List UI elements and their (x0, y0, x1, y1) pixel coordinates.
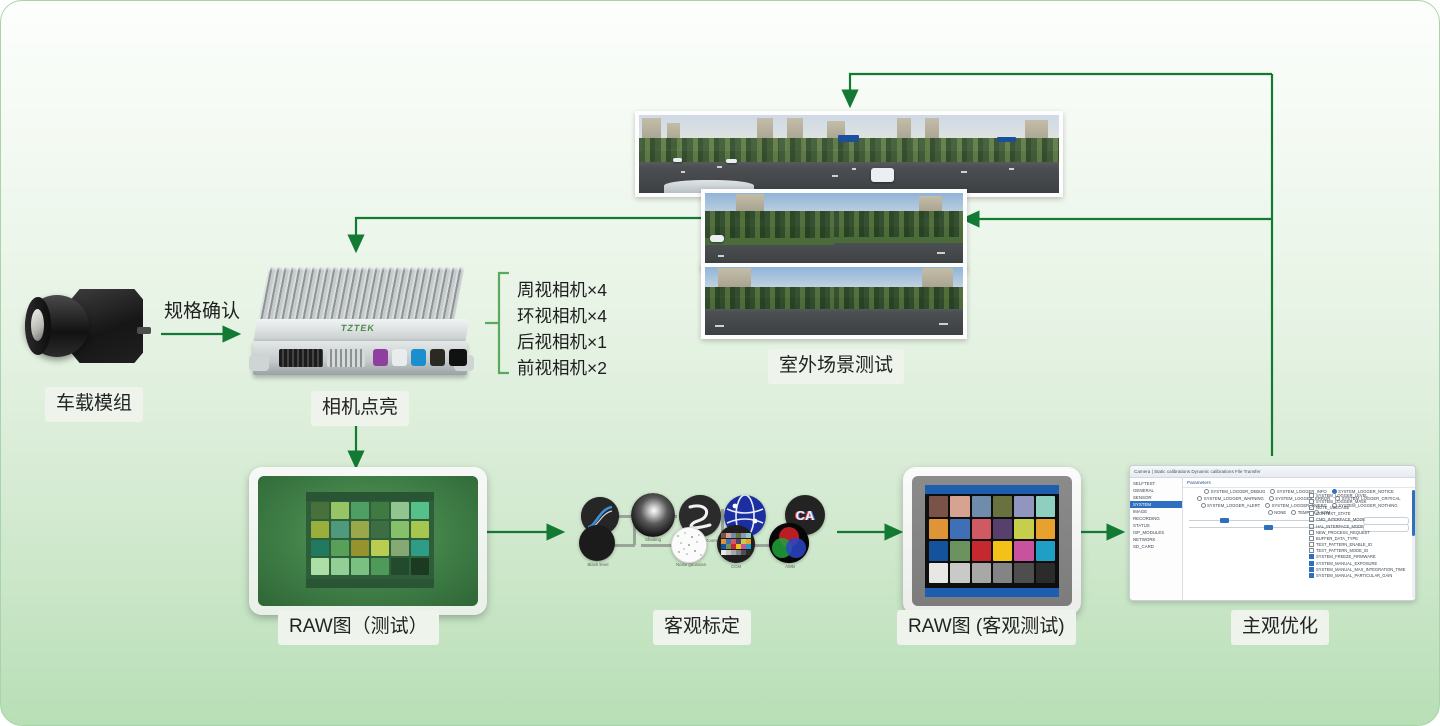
colorchecker-patch (972, 563, 991, 583)
param-checkbox[interactable] (1309, 567, 1314, 572)
radio-label: SYSTEM_LOGGER_ALERT (1207, 503, 1260, 508)
edge-scene-to-ecu (356, 218, 701, 251)
colorchecker-patch (731, 533, 736, 538)
colorchecker-patch (1014, 541, 1033, 561)
colorchecker-patch (746, 544, 751, 549)
software-tree-item[interactable]: ISP_MODULES (1130, 529, 1182, 536)
radio-label: TEMP (1298, 510, 1310, 515)
software-tab-parameters[interactable]: Parameters (1183, 478, 1415, 488)
colorchecker-patch (993, 496, 1012, 516)
spec-item-2: 后视相机×1 (517, 329, 607, 355)
noise-icon (671, 527, 707, 563)
colorchecker-patch (929, 563, 948, 583)
scene-photo-row-top (635, 111, 1063, 197)
colorchecker-patch (736, 539, 741, 544)
colorchecker-patch (351, 558, 369, 575)
colorchecker-patch (311, 558, 329, 575)
colorchecker-patch (726, 539, 731, 544)
sphere-shading-icon (631, 493, 675, 537)
colorchecker-patch (746, 533, 751, 538)
colorchecker-patch (371, 558, 389, 575)
spec-item-1: 环视相机×4 (517, 303, 607, 329)
param-label: SYSTEM_MANUAL_PARTICULAR_GAIN (1316, 573, 1392, 578)
calibration-pipeline-icon: Relative IT Shading Distance & Zoom Matr… (569, 487, 831, 575)
colorchecker-patch (950, 563, 969, 583)
param-label: CMD_INTERFACE_MODE (1316, 517, 1365, 522)
caption-camera-module: 车载模组 (45, 387, 143, 422)
param-label: TEST_PATTERN_ENABLE_ID (1316, 542, 1372, 547)
colorchecker-patch (311, 540, 329, 557)
monitor-green-colorchecker-icon (249, 467, 487, 615)
param-checkbox[interactable] (1309, 573, 1314, 578)
colorchecker-patch (391, 502, 409, 519)
radio-button[interactable] (1291, 510, 1296, 515)
colorchecker-patch (972, 519, 991, 539)
software-tree-item[interactable]: IMAGE (1130, 508, 1182, 515)
software-tree-item[interactable]: NETWORK (1130, 536, 1182, 543)
colorchecker-patch (972, 541, 991, 561)
radio-button[interactable] (1201, 503, 1206, 508)
param-checkbox[interactable] (1309, 548, 1314, 553)
colorchecker-patch (1014, 496, 1033, 516)
radio-button[interactable] (1265, 503, 1270, 508)
camera-module-icon (19, 281, 149, 371)
param-checkbox[interactable] (1309, 499, 1314, 504)
colorchecker-patch (311, 502, 329, 519)
scene-photo-cell (779, 115, 919, 193)
param-label: NEW_PROCESS_REQUEST (1316, 530, 1370, 535)
param-label: HAL_INTERFACE_MODE (1316, 524, 1364, 529)
scene-photo-cell (919, 115, 1059, 193)
caption-objective-calibration: 客观标定 (653, 610, 751, 645)
ecu-controller-icon: TZTEK (249, 267, 474, 379)
colorchecker-patch (741, 539, 746, 544)
colorchecker-patch (351, 502, 369, 519)
radio-button[interactable] (1270, 489, 1275, 494)
colorchecker-patch (721, 539, 726, 544)
colorchecker-patch (726, 533, 731, 538)
software-titlebar: Camera | Static calibrations Dynamic cal… (1130, 466, 1415, 478)
param-checkbox[interactable] (1309, 524, 1314, 529)
spec-list: 周视相机×4 环视相机×4 后视相机×1 前视相机×2 (517, 277, 607, 381)
software-tree-item[interactable]: SELFTEST (1130, 480, 1182, 487)
spec-bracket (485, 273, 509, 373)
colorchecker-patch (391, 521, 409, 538)
colorchecker-patch (929, 541, 948, 561)
calib-label-5: Black level (575, 562, 621, 567)
colorchecker-patch (731, 539, 736, 544)
param-checkbox[interactable] (1309, 536, 1314, 541)
param-label: SYSTEM_MANUAL_EXPOSURE (1316, 561, 1377, 566)
colorchecker-patch (929, 496, 948, 516)
calib-label-7: CCM (719, 564, 753, 569)
colorchecker-patch (741, 533, 746, 538)
scene-photo-cell (705, 193, 834, 267)
colorchecker-patch (950, 541, 969, 561)
colorchecker-patch (741, 550, 746, 555)
colorchecker-patch (741, 544, 746, 549)
software-tree-panel[interactable]: SELFTESTGENERALSENSORSYSTEMIMAGERECORDIN… (1130, 478, 1183, 601)
scene-photo-cell (639, 115, 779, 193)
colorchecker-patch (331, 558, 349, 575)
colorchecker-patch (1036, 541, 1055, 561)
colorchecker-patch (371, 521, 389, 538)
radio-button[interactable] (1269, 496, 1274, 501)
software-param-list[interactable]: SYSTEM_LOGGER_LEVELSYSTEM_LOGGER_MASKNOT… (1309, 492, 1413, 579)
colorchecker-patch (929, 519, 948, 539)
colorchecker-patch (721, 550, 726, 555)
spec-item-0: 周视相机×4 (517, 277, 607, 303)
colorchecker-patch (371, 540, 389, 557)
tuning-software-window-icon[interactable]: Camera | Static calibrations Dynamic cal… (1129, 465, 1416, 601)
colorchecker-patch (411, 540, 429, 557)
param-checkbox[interactable] (1309, 505, 1314, 510)
colorchecker-patch (311, 521, 329, 538)
colorchecker-patch (950, 519, 969, 539)
colorchecker-patch (950, 496, 969, 516)
colorchecker-patch (391, 558, 409, 575)
colorchecker-patch (746, 539, 751, 544)
caption-camera-bringup: 相机点亮 (311, 391, 409, 426)
param-label: SYSTEM_MANUAL_MAX_INTEGRATION_TIME (1316, 567, 1405, 572)
colorchecker-icon (717, 525, 755, 563)
param-checkbox[interactable] (1309, 561, 1314, 566)
caption-raw-test: RAW图（测试） (278, 610, 439, 645)
monitor-colorchecker-icon (903, 467, 1081, 615)
param-label: CONTEXT_STATE (1316, 511, 1350, 516)
software-param-row[interactable]: SYSTEM_MANUAL_PARTICULAR_GAIN (1309, 572, 1413, 578)
colorchecker-patch (1036, 496, 1055, 516)
radio-button[interactable] (1197, 496, 1202, 501)
colorchecker-patch (411, 558, 429, 575)
software-tree-item[interactable]: SENSOR (1130, 494, 1182, 501)
param-checkbox[interactable] (1309, 493, 1314, 498)
colorchecker-patch (972, 496, 991, 516)
colorchecker-patch (731, 550, 736, 555)
calib-label-6: Noise gaussian (665, 562, 717, 567)
param-label: SYSTEM_LOGGER_MASK (1316, 499, 1367, 504)
colorchecker-patch (736, 544, 741, 549)
param-checkbox[interactable] (1309, 542, 1314, 547)
colorchecker-patch (391, 540, 409, 557)
scene-photo-row-bottom (701, 263, 967, 339)
scene-photo-cell (834, 193, 963, 267)
radio-label: SYSTEM_LOGGER_WARNING (1204, 496, 1264, 501)
edge-label-spec-confirm: 规格确认 (164, 296, 240, 323)
colorchecker-patch (371, 502, 389, 519)
param-label: NOTE_USECASE (1316, 505, 1349, 510)
param-label: TEST_PATTERN_MODE_ID (1316, 548, 1368, 553)
scene-photo-row-middle (701, 189, 967, 271)
colorchecker-patch (736, 533, 741, 538)
colorchecker-patch (331, 502, 349, 519)
scene-photo-cell (834, 267, 963, 335)
colorchecker-patch (411, 521, 429, 538)
radio-label: NONE (1274, 510, 1286, 515)
software-param-row[interactable]: SYSTEM_MANUAL_MAX_INTEGRATION_TIME (1309, 566, 1413, 572)
colorchecker-patch (736, 550, 741, 555)
colorchecker-patch (1036, 563, 1055, 583)
colorchecker-patch (351, 540, 369, 557)
edge-feedback-to-top-scene (850, 74, 1272, 106)
radio-button[interactable] (1268, 510, 1273, 515)
software-tree-item[interactable]: SYSTEM (1130, 501, 1182, 508)
colorchecker-patch (726, 550, 731, 555)
black-disc-icon (579, 525, 615, 561)
colorchecker-patch (331, 540, 349, 557)
param-checkbox[interactable] (1309, 554, 1314, 559)
caption-raw-objective: RAW图 (客观测试) (897, 610, 1076, 645)
colorchecker-patch (1036, 519, 1055, 539)
colorchecker-patch (351, 521, 369, 538)
spec-item-3: 前视相机×2 (517, 355, 607, 381)
scene-photo-cell (705, 267, 834, 335)
colorchecker-patch (993, 563, 1012, 583)
colorchecker-patch (993, 519, 1012, 539)
colorchecker-patch (1014, 519, 1033, 539)
caption-subjective-optimization: 主观优化 (1231, 610, 1329, 645)
param-checkbox[interactable] (1309, 530, 1314, 535)
colorchecker-patch (726, 544, 731, 549)
param-label: BUFFER_DATA_TYPE (1316, 536, 1358, 541)
software-title-text: Camera | Static calibrations Dynamic cal… (1134, 469, 1261, 474)
colorchecker-patch (721, 533, 726, 538)
colorchecker-patch (1014, 563, 1033, 583)
software-tree-item[interactable]: RECORDING (1130, 515, 1182, 522)
ecu-brand-text: TZTEK (340, 323, 376, 333)
diagram-canvas: 车载模组 规格确认 TZTEK 相机点亮 周视相机×4 环视相机×4 后视相机×… (0, 0, 1440, 726)
colorchecker-patch (746, 550, 751, 555)
software-tree-item[interactable]: GENERAL (1130, 487, 1182, 494)
radio-button[interactable] (1204, 489, 1209, 494)
software-tree-item[interactable]: SD_CARD (1130, 543, 1182, 550)
rgb-wheel-icon (769, 523, 809, 563)
colorchecker-patch (993, 541, 1012, 561)
colorchecker-patch (731, 544, 736, 549)
caption-outdoor-scene-test: 室外场景测试 (768, 349, 904, 384)
colorchecker-patch (411, 502, 429, 519)
calib-label-8: AWB (775, 564, 805, 569)
param-label: SYSTEM_LOGGER_LEVEL (1316, 493, 1368, 498)
param-checkbox[interactable] (1309, 517, 1314, 522)
param-checkbox[interactable] (1309, 511, 1314, 516)
software-params-panel[interactable]: Parameters SYSTEM_LOGGER_DEBUGSYSTEM_LOG… (1183, 478, 1415, 601)
software-scrollbar[interactable] (1412, 490, 1415, 598)
software-tree-item[interactable]: STATUS (1130, 522, 1182, 529)
colorchecker-patch (721, 544, 726, 549)
radio-label: SYSTEM_LOGGER_DEBUG (1211, 489, 1266, 494)
param-label: SYSTEM_FREEZE_FIRMWARE (1316, 554, 1376, 559)
colorchecker-patch (331, 521, 349, 538)
